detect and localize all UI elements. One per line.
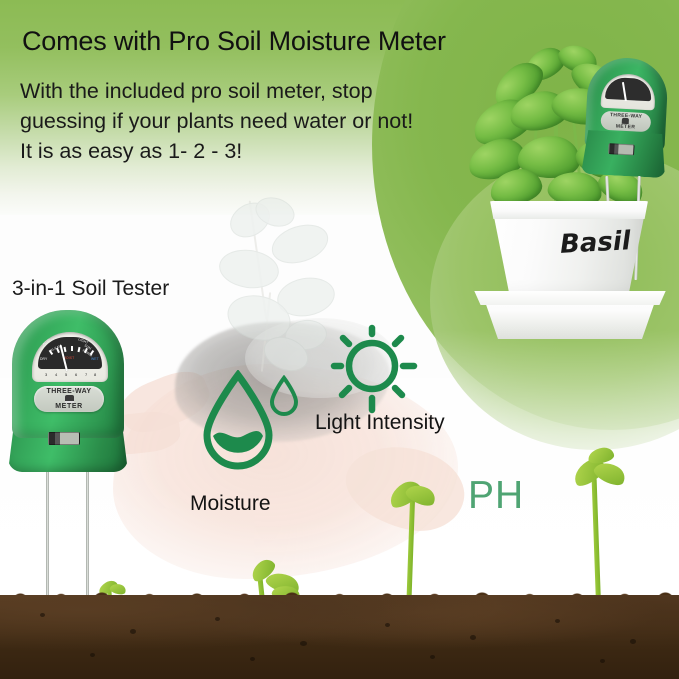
soil-speck [470,635,476,640]
meter-nameplate-bottom: METER [600,123,650,132]
soil-speck [90,653,95,657]
dial-number-7: 7 [85,372,87,377]
water-drop-icon [199,370,277,470]
meter-nameplate: THREE-WAY METER [34,386,104,412]
soil-tester-caption: 3-in-1 Soil Tester [12,277,169,301]
product-marketing-image: Comes with Pro Soil Moisture Meter With … [0,0,679,679]
moisture-feature-label: Moisture [190,492,271,516]
soil-tester-device: ACID ALKALI LIGHT SUN MOIST DRY WET NORM [12,310,124,475]
dial-label-dry: DRY [40,357,47,361]
dial-label-wet: WET [91,357,99,361]
soil-speck [385,623,390,627]
meter-nameplate-bottom: METER [34,403,104,410]
soil-speck [430,655,435,659]
meter-dial-scale [605,77,652,101]
pot-name-label: Basil [559,226,631,260]
meter-function-switch[interactable] [48,432,80,445]
dial-number-4: 4 [55,372,57,377]
meter-nameplate: THREE-WAY METER [600,111,651,133]
meter-dial-face: ACID ALKALI LIGHT SUN MOIST DRY WET NORM [32,332,108,382]
soil-speck [600,659,605,663]
page-headline: Comes with Pro Soil Moisture Meter [22,26,446,57]
soil-ground-strip [0,595,679,679]
soil-speck [630,639,636,644]
light-intensity-feature-label: Light Intensity [315,411,445,435]
meter-function-switch[interactable] [608,143,635,155]
meter-mode-switch-icon [65,395,74,403]
dial-number-8: 8 [94,372,96,377]
pot-rim [485,201,653,219]
soil-speck [300,641,307,646]
meter-nameplate-top: THREE-WAY [34,388,104,395]
page-subtitle: With the included pro soil meter, stop g… [20,76,450,166]
subtitle-line-3: It is as easy as 1- 2 - 3! [20,136,450,166]
sun-icon [324,324,420,420]
soil-speck [250,657,255,661]
dial-tick [71,346,73,351]
soil-speck [215,617,220,621]
soil-speck [555,619,560,623]
soil-speck [40,613,45,617]
meter-body: ACID ALKALI LIGHT SUN MOIST DRY WET NORM [12,310,124,438]
dial-number-3: 3 [45,372,47,377]
ph-feature-label: PH [468,474,524,518]
meter-dial-scale: ACID ALKALI LIGHT SUN MOIST DRY WET NORM [38,337,102,369]
subtitle-line-1: With the included pro soil meter, stop [20,76,450,106]
dial-tick [77,347,80,352]
small-water-drop-icon [268,375,300,417]
meter-dial-face [601,73,657,111]
dial-label-acid: ACID [42,338,51,346]
soil-meter-in-pot: THREE-WAY METER [583,56,669,180]
dial-tick [63,347,66,352]
soil-speck [130,629,136,634]
dial-number-5: 5 [65,372,67,377]
dial-number-6: 6 [75,372,77,377]
subtitle-line-2: guessing if your plants need water or no… [20,106,450,136]
pot-saucer-lip [466,291,674,305]
